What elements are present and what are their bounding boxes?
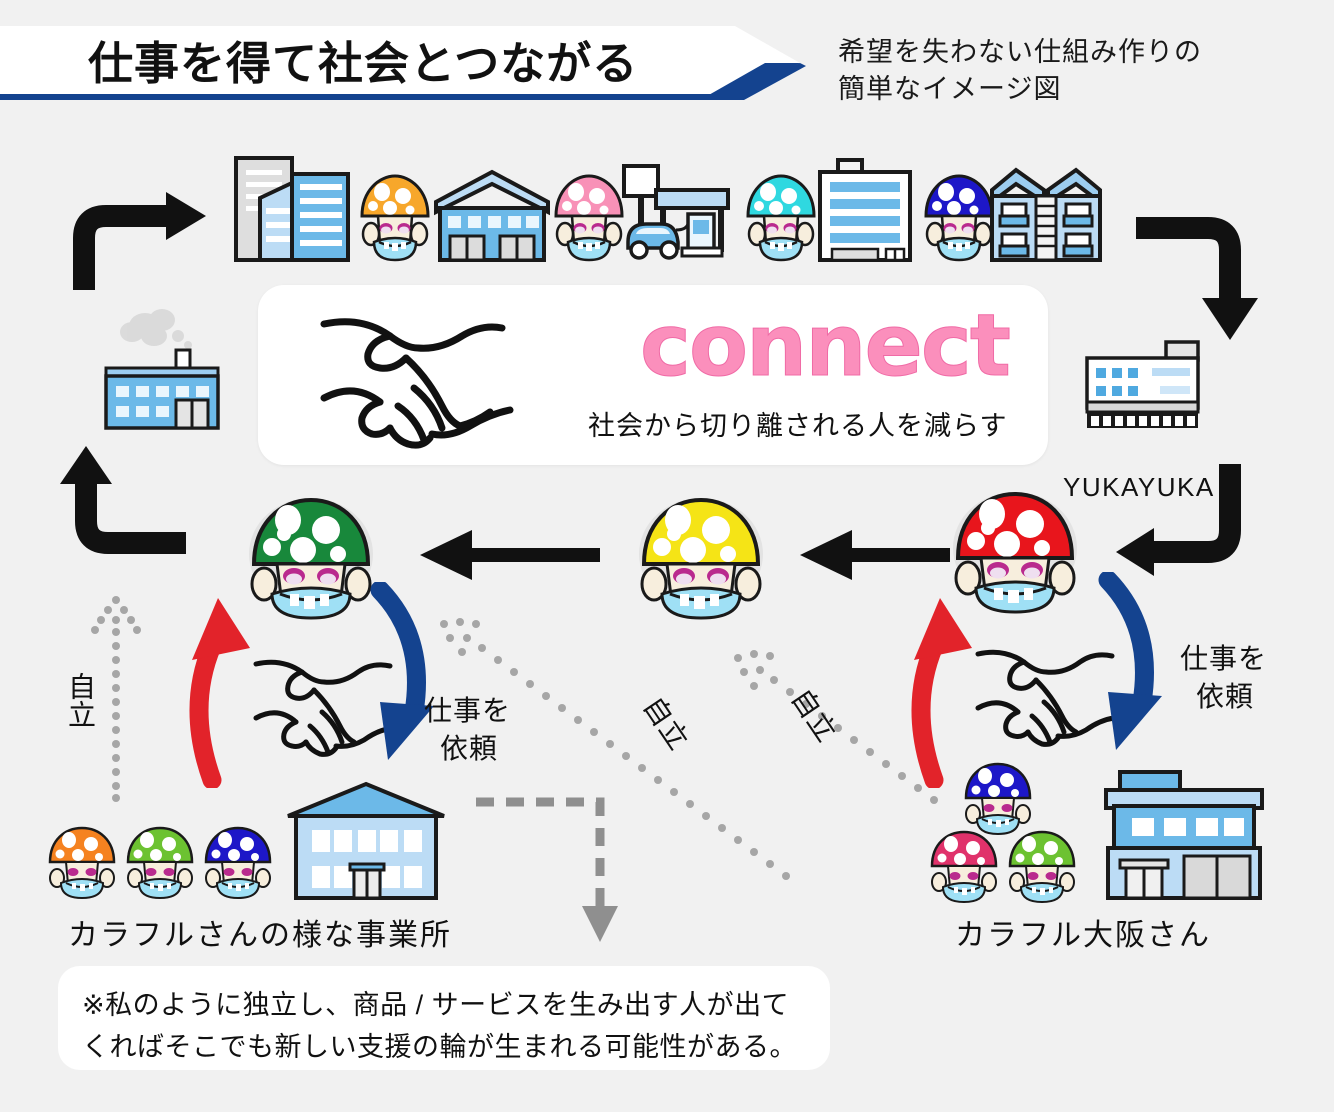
support-facility-icon (1082, 340, 1207, 430)
header-subtitle-line1: 希望を失わない仕組み作りの (838, 34, 1318, 71)
note-line2: くればそこでも新しい支援の輪が生まれる可能性がある。 (82, 1026, 812, 1068)
mushroom-person-green-small-icon-r (1006, 828, 1078, 906)
cycle-arrow-bottom-left (52, 440, 192, 555)
infographic-canvas: 仕事を得て社会とつながる 希望を失わない仕組み作りの 簡単なイメージ図 (0, 0, 1334, 1112)
header-subtitle: 希望を失わない仕組み作りの 簡単なイメージ図 (838, 34, 1318, 108)
note-line1: ※私のように独立し、商品 / サービスを生み出す人が出て (82, 984, 812, 1026)
office-buildings-icon (232, 152, 354, 264)
shigoto-irai-right-line1: 仕事を (1180, 640, 1300, 678)
shigoto-irai-label-right: 仕事を 依頼 (1180, 640, 1300, 716)
jiritsu-dotted-arrow-mid-2 (718, 640, 948, 890)
warehouse-icon (432, 168, 552, 264)
mushroom-person-blue-small-icon-r (962, 760, 1034, 838)
cycle-arrow-top-right (1132, 216, 1277, 346)
mushroom-person-blue-small-icon (202, 824, 274, 902)
shop-building-icon (1100, 768, 1268, 904)
jiritsu-char-1: 自立 (62, 672, 98, 728)
shigoto-irai-right-line2: 依頼 (1196, 678, 1300, 716)
gas-station-icon (614, 162, 734, 264)
mushroom-person-orange-small-icon (46, 824, 118, 902)
dashed-elbow-arrow (470, 790, 650, 950)
cycle-arrow-top-left (70, 190, 210, 295)
header-subtitle-line2: 簡単なイメージ図 (838, 71, 1318, 108)
mushroom-person-yellow-icon (636, 492, 766, 620)
connect-tagline: 社会から切り離される人を減らす (588, 404, 1048, 443)
page-title: 仕事を得て社会とつながる (88, 36, 728, 92)
handshake-icon (310, 306, 560, 454)
office-block-icon (816, 156, 914, 264)
mushroom-person-blue-icon (922, 172, 996, 264)
factory-with-smoke-icon (100, 300, 240, 435)
mushroom-person-cyan-icon (744, 172, 818, 264)
caption-left: カラフルさんの様な事業所 (68, 910, 508, 954)
caption-right: カラフル大阪さん (955, 910, 1275, 954)
mushroom-person-green-small-icon (124, 824, 196, 902)
note-text: ※私のように独立し、商品 / サービスを生み出す人が出て くればそこでも新しい支… (82, 984, 812, 1068)
house-icon (986, 164, 1106, 264)
flow-arrow-left-1 (420, 528, 600, 582)
yukayuka-label: YUKAYUKA (1063, 472, 1215, 503)
mushroom-person-orange-icon (358, 172, 432, 264)
jiritsu-label-left: 自立 (62, 672, 96, 728)
connect-wordmark: connect (640, 300, 1000, 392)
